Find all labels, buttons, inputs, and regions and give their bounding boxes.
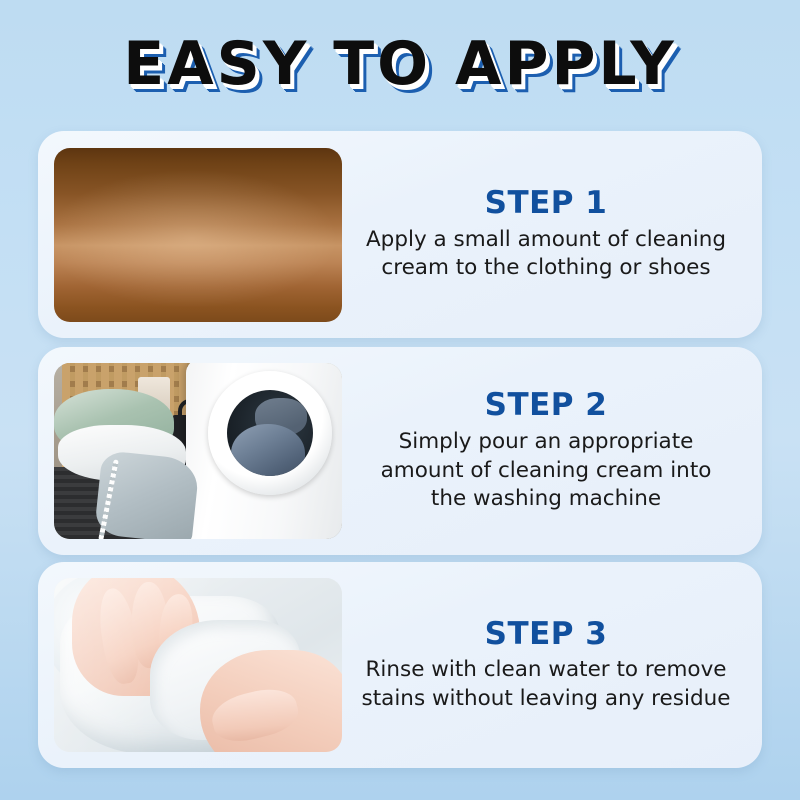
- page-title: EASY TO APPLY: [123, 34, 677, 94]
- cleaning-cream-swatch-image: [54, 148, 342, 322]
- step-card-3[interactable]: STEP 3 Rinse with clean water to remove …: [38, 562, 762, 768]
- step-2-title: STEP 2: [360, 388, 732, 424]
- step-2-description: Simply pour an appropriate amount of cle…: [360, 428, 732, 514]
- step-3-text-column: STEP 3 Rinse with clean water to remove …: [342, 617, 746, 714]
- washer-door: [208, 371, 332, 495]
- step-1-text-column: STEP 1 Apply a small amount of cleaning …: [342, 186, 746, 283]
- step-1-title: STEP 1: [360, 186, 732, 222]
- step-1-description: Apply a small amount of cleaning cream t…: [360, 226, 732, 283]
- drum-clothes-front: [231, 424, 305, 476]
- washing-machine-image: [54, 363, 342, 539]
- rinsing-hands-image: [54, 578, 342, 752]
- image-highlight-sheen: [54, 578, 342, 752]
- step-card-2[interactable]: STEP 2 Simply pour an appropriate amount…: [38, 347, 762, 555]
- page-title-container: EASY TO APPLY: [0, 18, 800, 110]
- step-2-text-column: STEP 2 Simply pour an appropriate amount…: [342, 388, 746, 513]
- step-3-title: STEP 3: [360, 617, 732, 653]
- step-3-description: Rinse with clean water to remove stains …: [360, 656, 732, 713]
- washer-door-glass: [227, 390, 313, 476]
- step-card-1[interactable]: STEP 1 Apply a small amount of cleaning …: [38, 131, 762, 338]
- washer-body: [186, 363, 342, 539]
